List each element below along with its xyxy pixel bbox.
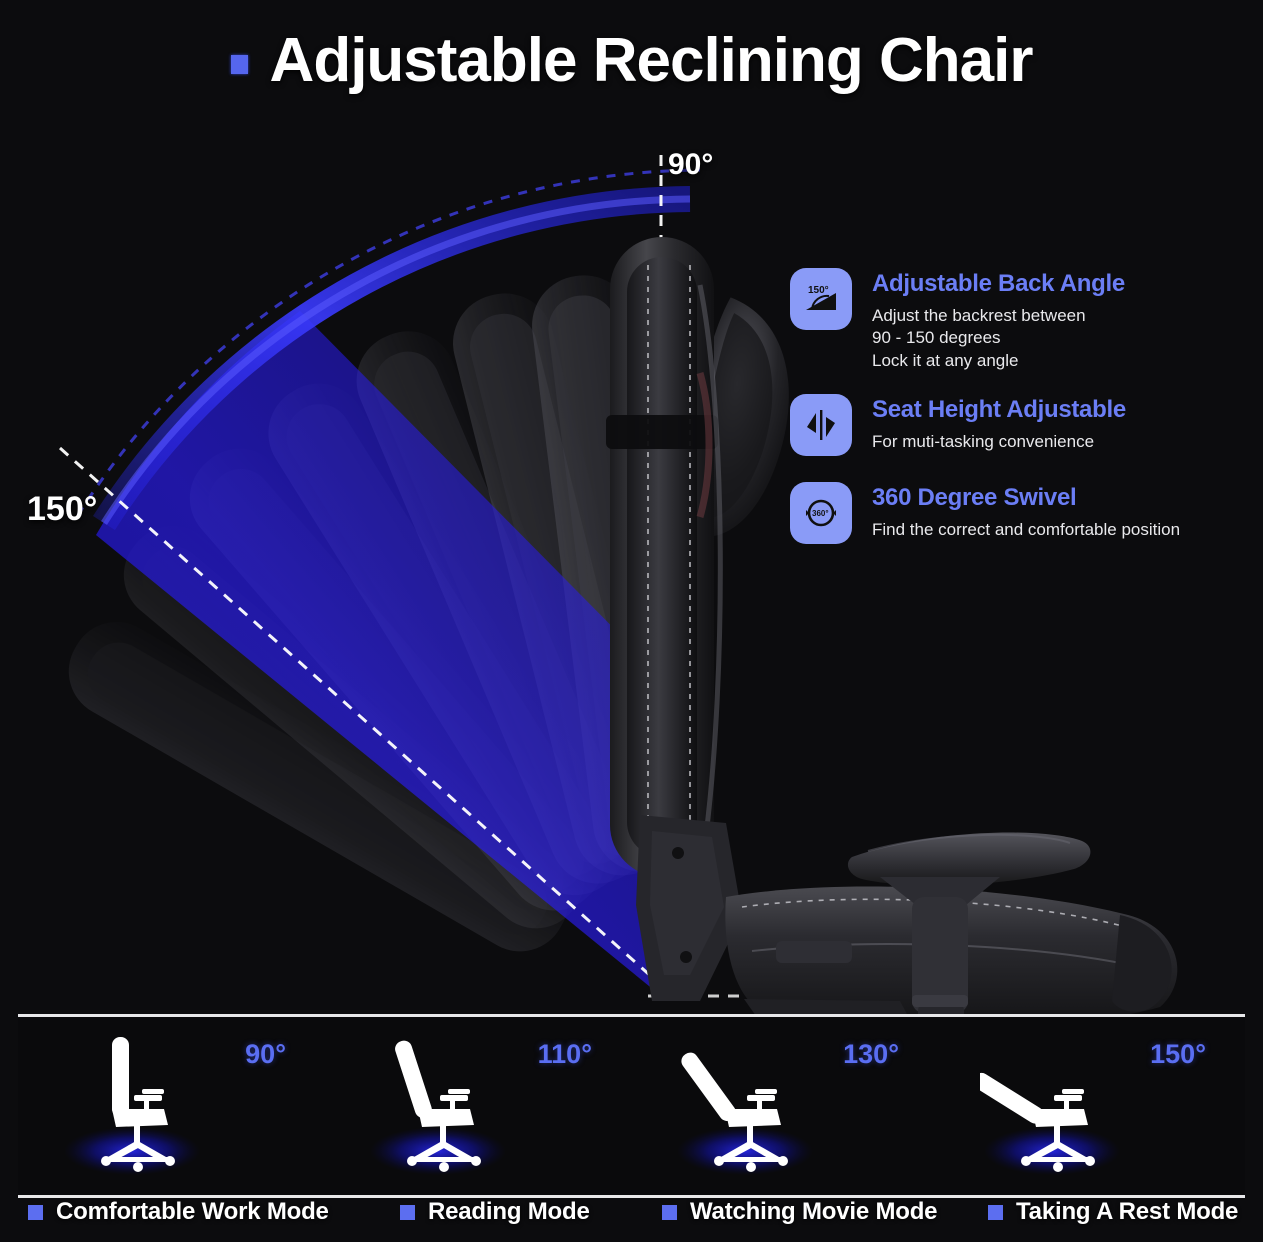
mode-cell-130: 130° [631, 1017, 937, 1189]
caption-label: Comfortable Work Mode [56, 1198, 329, 1226]
square-bullet-icon [662, 1205, 677, 1220]
angle-label-90: 90° [668, 148, 713, 182]
svg-text:150°: 150° [808, 285, 829, 296]
feature-item-seat-height: Seat Height Adjustable For muti-tasking … [790, 394, 1260, 456]
mode-cell-150: 150° [938, 1017, 1244, 1189]
feature-item-swivel: 360° 360 Degree Swivel Find the correct … [790, 482, 1260, 544]
square-bullet-icon [231, 55, 248, 74]
feature-list: 150° Adjustable Back Angle Adjust the ba… [790, 268, 1260, 569]
feature-item-back-angle: 150° Adjustable Back Angle Adjust the ba… [790, 268, 1260, 372]
caption-label: Taking A Rest Mode [1016, 1198, 1238, 1226]
swivel-360-icon: 360° [790, 482, 852, 544]
square-bullet-icon [28, 1205, 43, 1220]
chair-silhouette-icon [60, 1025, 220, 1185]
height-adjust-icon [790, 394, 852, 456]
mode-angle-label: 130° [843, 1039, 899, 1070]
chair-silhouette-icon [366, 1025, 526, 1185]
caption-label: Watching Movie Mode [690, 1198, 937, 1226]
mode-angle-label: 90° [245, 1039, 286, 1070]
recline-angle-icon: 150° [790, 268, 852, 330]
page-title: Adjustable Reclining Chair [270, 30, 1033, 92]
recline-mode-strip: 90° [18, 1014, 1245, 1198]
angle-label-150: 150° [27, 490, 97, 529]
backrest [606, 237, 720, 877]
mode-angle-label: 110° [538, 1039, 592, 1070]
mode-caption-row: Comfortable Work Mode Reading Mode Watch… [0, 1198, 1263, 1238]
svg-text:360°: 360° [812, 509, 829, 518]
mode-caption-reading: Reading Mode [400, 1198, 590, 1226]
feature-description: Adjust the backrest between 90 - 150 deg… [872, 305, 1125, 372]
mode-caption-movie: Watching Movie Mode [662, 1198, 937, 1226]
feature-description: Find the correct and comfortable positio… [872, 519, 1180, 541]
mode-cell-110: 110° [324, 1017, 630, 1189]
feature-title: 360 Degree Swivel [872, 484, 1180, 512]
feature-title: Seat Height Adjustable [872, 396, 1126, 424]
feature-title: Adjustable Back Angle [872, 270, 1125, 298]
caption-label: Reading Mode [428, 1198, 590, 1226]
mode-cell-90: 90° [18, 1017, 324, 1189]
feature-description: For muti-tasking convenience [872, 431, 1126, 453]
square-bullet-icon [988, 1205, 1003, 1220]
page-title-row: Adjustable Reclining Chair [0, 30, 1263, 92]
mode-caption-rest: Taking A Rest Mode [988, 1198, 1238, 1226]
infographic-page: Adjustable Reclining Chair [0, 0, 1263, 1242]
square-bullet-icon [400, 1205, 415, 1220]
chair-silhouette-icon [980, 1025, 1140, 1185]
mode-angle-label: 150° [1150, 1039, 1206, 1070]
chair-silhouette-icon [673, 1025, 833, 1185]
mode-caption-work: Comfortable Work Mode [28, 1198, 329, 1226]
